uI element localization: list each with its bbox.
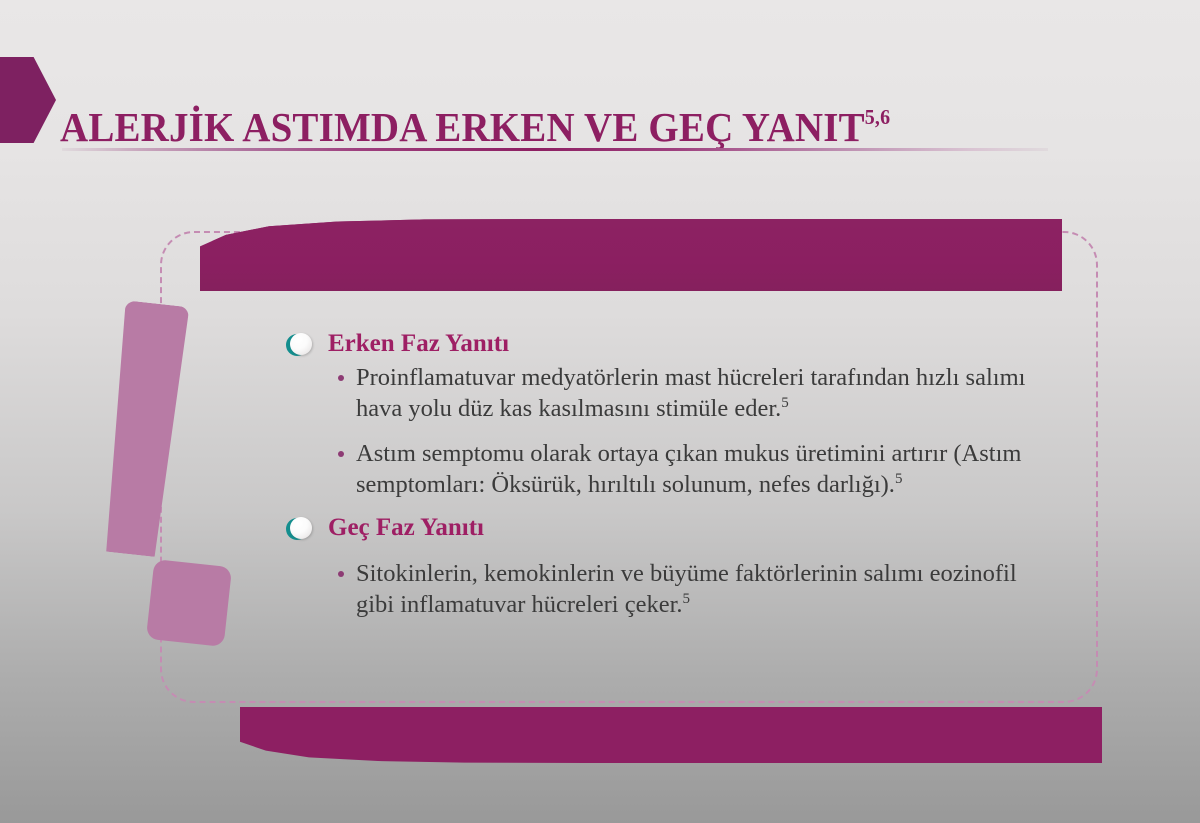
banner-top-decoration (200, 219, 1062, 291)
section-late-phase-list: Sitokinlerin, kemokinlerin ve büyüme fak… (336, 558, 1056, 620)
section-late-phase: Geç Faz Yanıtı Sitokinlerin, kemokinleri… (286, 514, 1056, 620)
list-item-text: Sitokinlerin, kemokinlerin ve büyüme fak… (356, 560, 1017, 618)
section-early-phase-header: Erken Faz Yanıtı (286, 330, 1056, 358)
section-late-phase-title: Geç Faz Yanıtı (328, 514, 484, 542)
list-item-text: Proinflamatuvar medyatörlerin mast hücre… (356, 364, 1025, 422)
exclamation-dot-icon (146, 559, 232, 647)
title-divider-rule (62, 148, 1048, 151)
section-early-phase: Erken Faz Yanıtı Proinflamatuvar medyatö… (286, 330, 1056, 500)
page-title-text: ALERJİK ASTIMDA ERKEN VE GEÇ YANIT (60, 103, 865, 151)
section-early-phase-list: Proinflamatuvar medyatörlerin mast hücre… (336, 362, 1056, 500)
banner-top-fill (200, 219, 1062, 291)
list-item-reference: 5 (895, 471, 903, 487)
slide-canvas: ALERJİK ASTIMDA ERKEN VE GEÇ YANIT5,6 Er… (0, 0, 1200, 823)
section-late-phase-header: Geç Faz Yanıtı (286, 514, 1056, 542)
section-early-phase-title: Erken Faz Yanıtı (328, 330, 509, 358)
content-body: Erken Faz Yanıtı Proinflamatuvar medyatö… (286, 330, 1056, 626)
list-item-reference: 5 (781, 395, 789, 411)
banner-bottom-decoration (240, 707, 1102, 763)
sphere-bullet-ball-icon (290, 517, 312, 539)
sphere-bullet-ball-icon (290, 333, 312, 355)
sphere-bullet-icon (286, 517, 310, 541)
title-arrow-decoration (0, 57, 56, 143)
page-title: ALERJİK ASTIMDA ERKEN VE GEÇ YANIT5,6 (60, 87, 1048, 167)
list-item: Astım semptomu olarak ortaya çıkan mukus… (336, 438, 1056, 500)
sphere-bullet-icon (286, 333, 310, 357)
list-item: Proinflamatuvar medyatörlerin mast hücre… (336, 362, 1056, 424)
list-item-reference: 5 (683, 591, 691, 607)
list-item: Sitokinlerin, kemokinlerin ve büyüme fak… (336, 558, 1056, 620)
list-item-text: Astım semptomu olarak ortaya çıkan mukus… (356, 440, 1021, 498)
